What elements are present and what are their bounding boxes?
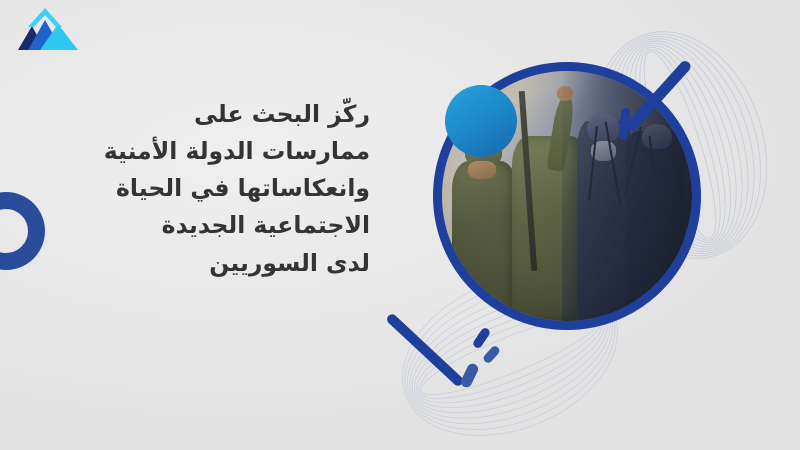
diagonal-bar-bottom-stub: [472, 326, 492, 349]
mountain-peaks-logo[interactable]: [12, 6, 84, 58]
accent-gradient-dot: [445, 85, 517, 157]
photo-composition: [415, 45, 785, 435]
decorative-pill: [482, 344, 501, 364]
quote-card: ركّز البحث على ممارسات الدولة الأمنية وا…: [0, 0, 800, 450]
decorative-pill: [459, 362, 480, 389]
decorative-left-ring: [0, 192, 45, 270]
diagonal-bar-bottom: [385, 312, 465, 388]
headline-text: ركّز البحث على ممارسات الدولة الأمنية وا…: [65, 96, 370, 282]
